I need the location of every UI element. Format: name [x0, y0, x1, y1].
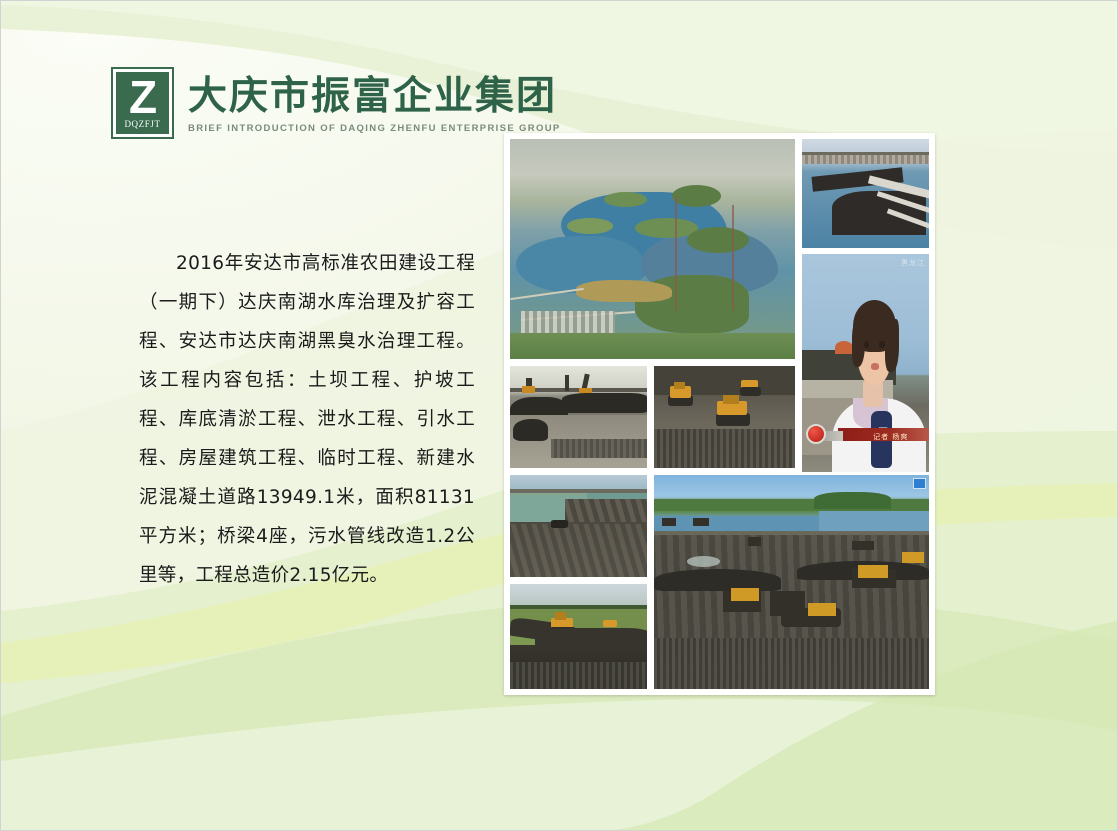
logo-inner-block: Z DQZFJT	[116, 72, 169, 134]
photo-panorama-lakebed	[653, 474, 930, 690]
photo-excavators-spoil	[509, 365, 648, 469]
logo-abbreviation: DQZFJT	[116, 119, 169, 129]
header-titles: 大庆市振富企业集团 BRIEF INTRODUCTION OF DAQING Z…	[188, 67, 561, 134]
photo-tv-reporter: 卫 记者 杨爽 黑龙江	[801, 253, 930, 473]
slide-header: Z DQZFJT 大庆市振富企业集团 BRIEF INTRODUCTION OF…	[111, 67, 561, 139]
company-logo: Z DQZFJT	[111, 67, 174, 139]
photo-collage: 卫 记者 杨爽 黑龙江	[504, 133, 935, 695]
slide-canvas: Z DQZFJT 大庆市振富企业集团 BRIEF INTRODUCTION OF…	[0, 0, 1118, 831]
photo-shoreline-dike	[801, 138, 930, 249]
logo-letter-z: Z	[129, 75, 156, 119]
tv-lower-third-caption: 记者 杨爽	[873, 432, 908, 442]
body-paragraph: 2016年安达市高标准农田建设工程（一期下）达庆南湖水库治理及扩容工程、安达市达…	[139, 244, 475, 595]
collage-grid: 卫 记者 杨爽 黑龙江	[509, 138, 930, 690]
photo-source-badge	[913, 478, 926, 489]
photo-dozer-line-grass	[509, 583, 648, 690]
tv-channel-watermark: 黑龙江	[901, 258, 925, 268]
photo-channel-water	[509, 474, 648, 578]
photo-dozers-slope	[653, 365, 796, 469]
photo-aerial-masterplan	[509, 138, 796, 360]
page-title: 大庆市振富企业集团	[188, 75, 561, 119]
